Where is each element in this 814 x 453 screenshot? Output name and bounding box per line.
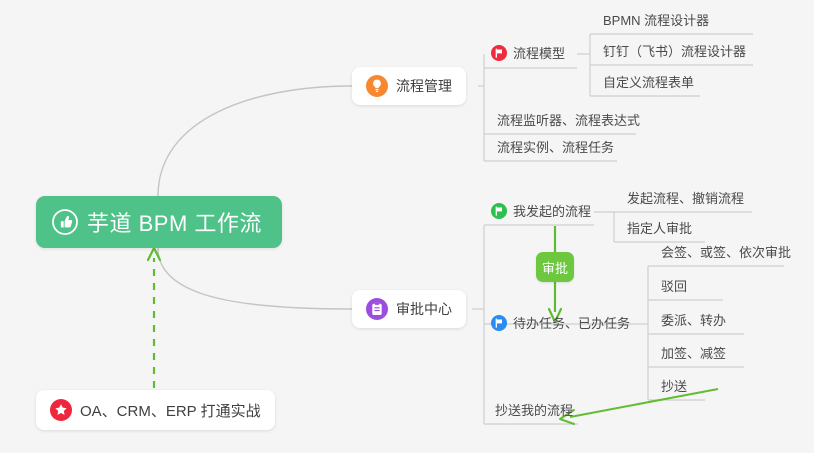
approval-badge[interactable]: 审批 <box>536 252 574 282</box>
approval-badge-label: 审批 <box>542 258 568 277</box>
node-label-process-model: 流程模型 <box>513 46 565 61</box>
branch-card-approval-center[interactable]: 审批中心 <box>352 290 466 328</box>
flag-icon-red <box>491 45 507 61</box>
node-label-todo-done-tasks: 待办任务、已办任务 <box>513 316 630 331</box>
node-listener-expression[interactable]: 流程监听器、流程表达式 <box>489 108 648 134</box>
star-icon <box>50 399 72 421</box>
node-label-cc: 抄送 <box>661 379 687 394</box>
node-label-instance-task: 流程实例、流程任务 <box>497 140 614 155</box>
node-label-custom-form: 自定义流程表单 <box>603 75 694 90</box>
node-label-listener-expression: 流程监听器、流程表达式 <box>497 113 640 128</box>
node-multi-sign[interactable]: 会签、或签、依次审批 <box>653 240 799 266</box>
bottom-card-integration[interactable]: OA、CRM、ERP 打通实战 <box>36 390 275 430</box>
flag-icon-green <box>491 203 507 219</box>
branch-card-process-management[interactable]: 流程管理 <box>352 67 466 105</box>
bottom-card-label: OA、CRM、ERP 打通实战 <box>80 400 261 421</box>
root-node[interactable]: 芋道 BPM 工作流 <box>36 196 282 248</box>
clipboard-icon <box>366 298 388 320</box>
node-start-cancel-process[interactable]: 发起流程、撤销流程 <box>619 186 752 212</box>
root-label: 芋道 BPM 工作流 <box>87 206 262 238</box>
node-label-designated-approver: 指定人审批 <box>627 221 692 236</box>
node-label-multi-sign: 会签、或签、依次审批 <box>661 245 791 260</box>
node-bpmn-designer[interactable]: BPMN 流程设计器 <box>595 8 717 34</box>
thumbs-up-icon <box>52 209 78 235</box>
node-dingtalk-designer[interactable]: 钉钉（飞书）流程设计器 <box>595 39 754 65</box>
node-cc[interactable]: 抄送 <box>653 374 695 400</box>
branch-label-process-management: 流程管理 <box>396 76 452 96</box>
node-my-initiated-process[interactable]: 我发起的流程 <box>487 199 599 225</box>
node-label-add-remove-sign: 加签、减签 <box>661 346 726 361</box>
branch-label-approval-center: 审批中心 <box>396 299 452 319</box>
node-designated-approver[interactable]: 指定人审批 <box>619 216 700 242</box>
node-label-start-cancel-process: 发起流程、撤销流程 <box>627 191 744 206</box>
node-label-bpmn-designer: BPMN 流程设计器 <box>603 13 709 28</box>
flag-icon-blue <box>491 315 507 331</box>
node-label-delegate-transfer: 委派、转办 <box>661 313 726 328</box>
dashed-link-to-root <box>148 248 160 388</box>
node-label-my-initiated-process: 我发起的流程 <box>513 204 591 219</box>
node-custom-form[interactable]: 自定义流程表单 <box>595 70 702 96</box>
lightbulb-icon <box>366 75 388 97</box>
node-label-cc-to-me-process: 抄送我的流程 <box>495 403 573 418</box>
node-add-remove-sign[interactable]: 加签、减签 <box>653 341 734 367</box>
node-instance-task[interactable]: 流程实例、流程任务 <box>489 135 622 161</box>
node-process-model[interactable]: 流程模型 <box>487 41 573 67</box>
node-reject[interactable]: 驳回 <box>653 274 695 300</box>
node-cc-to-me-process[interactable]: 抄送我的流程 <box>487 398 581 424</box>
node-todo-done-tasks[interactable]: 待办任务、已办任务 <box>487 311 638 337</box>
node-label-dingtalk-designer: 钉钉（飞书）流程设计器 <box>603 44 746 59</box>
node-delegate-transfer[interactable]: 委派、转办 <box>653 308 734 334</box>
node-label-reject: 驳回 <box>661 279 687 294</box>
mindmap-canvas: 芋道 BPM 工作流 流程管理 审批中心 <box>0 0 814 453</box>
